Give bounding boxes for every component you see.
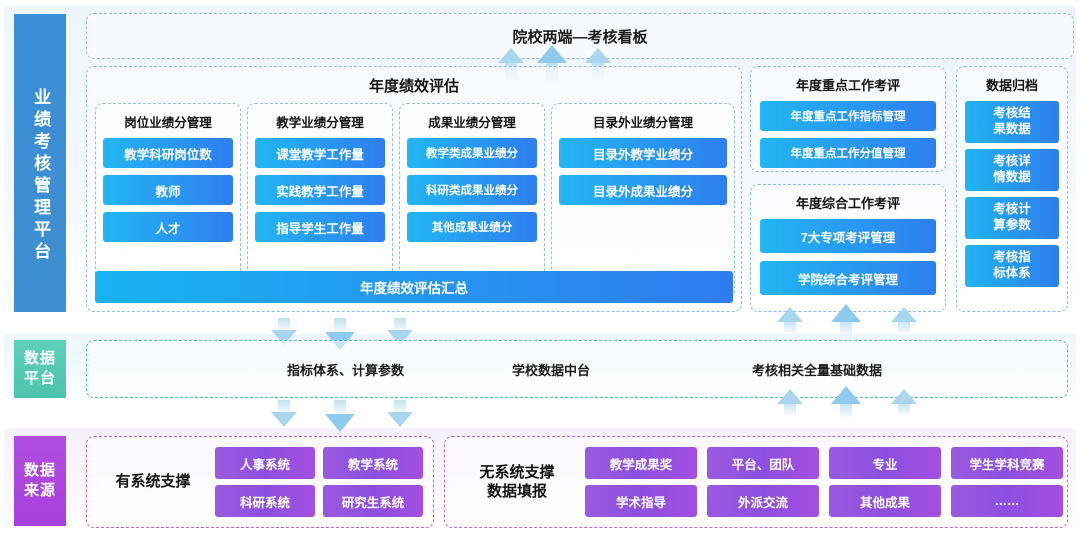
tile-research-achievement-score[interactable]: 科研类成果业绩分 bbox=[407, 175, 537, 205]
tile-teaching-research-posts[interactable]: 教学科研岗位数 bbox=[103, 138, 233, 168]
arrow-stem-up-5 bbox=[840, 402, 852, 418]
annual-performance-summary-bar[interactable]: 年度绩效评估汇总 bbox=[95, 271, 733, 303]
column-achievement-performance: 成果业绩分管理 教学类成果业绩分 科研类成果业绩分 其他成果业绩分 bbox=[399, 103, 545, 299]
arrow-up-kanban-2 bbox=[537, 45, 567, 63]
kanban-banner[interactable]: 院校两端—考核看板 bbox=[86, 13, 1074, 59]
arrow-stem-up-2 bbox=[840, 320, 852, 336]
arrow-down-5 bbox=[325, 414, 355, 432]
tile-appraisal-detail-data[interactable]: 考核详 情数据 bbox=[965, 149, 1059, 191]
tile-offcatalog-achievement-score[interactable]: 目录外成果业绩分 bbox=[559, 175, 727, 205]
data-platform-box: 指标体系、计算参数 学校数据中台 考核相关全量基础数据 bbox=[86, 340, 1068, 398]
tile-seven-special-appraisal[interactable]: 7大专项考评管理 bbox=[760, 219, 936, 253]
key-work-appraisal-title: 年度重点工作考评 bbox=[760, 75, 936, 94]
tile-teaching-system[interactable]: 教学系统 bbox=[323, 447, 423, 479]
tile-line1: 考核结 bbox=[993, 106, 1031, 122]
tile-practice-workload[interactable]: 实践教学工作量 bbox=[255, 175, 385, 205]
column-teaching-performance: 教学业绩分管理 课堂教学工作量 实践教学工作量 指导学生工作量 bbox=[247, 103, 393, 299]
tile-teacher[interactable]: 教师 bbox=[103, 175, 233, 205]
tile-teaching-achievement-award[interactable]: 教学成果奖 bbox=[585, 447, 697, 479]
tile-key-work-score-management[interactable]: 年度重点工作分值管理 bbox=[760, 138, 936, 168]
tile-line2: 标体系 bbox=[993, 266, 1031, 282]
data-source-label-line1: 数据 bbox=[24, 461, 56, 481]
key-work-appraisal-panel: 年度重点工作考评 年度重点工作指标管理 年度重点工作分值管理 bbox=[750, 66, 946, 172]
arrow-up-4 bbox=[777, 389, 803, 404]
arrow-up-kanban-1 bbox=[498, 48, 524, 63]
arrow-up-6 bbox=[891, 389, 917, 404]
manual-entry-tiles: 教学成果奖 平台、团队 专业 学生学科竞赛 学术指导 外派交流 其他成果 …… bbox=[585, 447, 1063, 517]
data-platform-label-line1: 数据 bbox=[24, 349, 56, 369]
manual-entry-label-line1: 无系统支撑 bbox=[479, 463, 554, 483]
arrow-down-4 bbox=[271, 412, 297, 427]
data-source-label-line2: 来源 bbox=[24, 481, 56, 501]
tile-appraisal-indicator-system[interactable]: 考核指 标体系 bbox=[965, 245, 1059, 287]
tile-line2: 算参数 bbox=[993, 218, 1031, 234]
column-post-performance: 岗位业绩分管理 教学科研岗位数 教师 人才 bbox=[95, 103, 241, 299]
tile-student-guidance-workload[interactable]: 指导学生工作量 bbox=[255, 212, 385, 242]
tile-other-achievements[interactable]: 其他成果 bbox=[829, 485, 941, 517]
tile-graduate-system[interactable]: 研究生系统 bbox=[323, 485, 423, 517]
data-source-band-label: 数据 来源 bbox=[14, 436, 66, 526]
tile-ellipsis[interactable]: …… bbox=[951, 485, 1063, 517]
tile-line1: 考核计 bbox=[993, 202, 1031, 218]
data-platform-left-text: 指标体系、计算参数 bbox=[287, 360, 404, 379]
arrow-stem-up-6 bbox=[898, 402, 910, 416]
column-title: 教学业绩分管理 bbox=[255, 112, 385, 131]
data-platform-label-line2: 平台 bbox=[24, 369, 56, 389]
comprehensive-work-appraisal-title: 年度综合工作考评 bbox=[760, 193, 936, 212]
tile-line2: 果数据 bbox=[993, 122, 1031, 138]
arrow-stem-up-4 bbox=[784, 402, 796, 416]
architecture-diagram: 业绩考核管理平台 数据 平台 数据 来源 院校两端—考核看板 年度绩效评估 岗位… bbox=[0, 0, 1080, 534]
tile-line2: 情数据 bbox=[993, 170, 1031, 186]
tile-college-comprehensive-appraisal[interactable]: 学院综合考评管理 bbox=[760, 261, 936, 295]
data-archive-title: 数据归档 bbox=[965, 75, 1059, 94]
tile-major[interactable]: 专业 bbox=[829, 447, 941, 479]
system-supported-sources-panel: 有系统支撑 人事系统 教学系统 科研系统 研究生系统 bbox=[86, 436, 434, 528]
tile-talent[interactable]: 人才 bbox=[103, 212, 233, 242]
annual-performance-title: 年度绩效评估 bbox=[87, 75, 741, 96]
comprehensive-work-appraisal-panel: 年度综合工作考评 7大专项考评管理 学院综合考评管理 bbox=[750, 184, 946, 312]
system-supported-label: 有系统支撑 bbox=[101, 437, 205, 527]
tile-appraisal-result-data[interactable]: 考核结 果数据 bbox=[965, 101, 1059, 143]
arrow-stem-up-3 bbox=[898, 320, 910, 334]
data-platform-center-text: 学校数据中台 bbox=[512, 360, 590, 379]
tile-appraisal-calculation-parameters[interactable]: 考核计 算参数 bbox=[965, 197, 1059, 239]
tile-research-system[interactable]: 科研系统 bbox=[215, 485, 315, 517]
tile-other-achievement-score[interactable]: 其他成果业绩分 bbox=[407, 212, 537, 242]
arrow-up-5 bbox=[831, 386, 861, 404]
arrow-up-3 bbox=[891, 307, 917, 322]
data-platform-right-text: 考核相关全量基础数据 bbox=[752, 360, 882, 379]
arrow-stem-up-1 bbox=[784, 320, 796, 334]
tile-student-discipline-competition[interactable]: 学生学科竞赛 bbox=[951, 447, 1063, 479]
manual-entry-label-line2: 数据填报 bbox=[479, 482, 554, 502]
arrow-up-2 bbox=[831, 304, 861, 322]
tile-platform-team[interactable]: 平台、团队 bbox=[707, 447, 819, 479]
arrow-up-kanban-3 bbox=[585, 48, 611, 63]
kanban-title: 院校两端—考核看板 bbox=[512, 26, 647, 47]
tile-line1: 考核详 bbox=[993, 154, 1031, 170]
tile-teaching-achievement-score[interactable]: 教学类成果业绩分 bbox=[407, 138, 537, 168]
column-offcatalog-performance: 目录外业绩分管理 目录外教学业绩分 目录外成果业绩分 bbox=[551, 103, 735, 299]
arrow-down-6 bbox=[387, 412, 413, 427]
tile-academic-guidance[interactable]: 学术指导 bbox=[585, 485, 697, 517]
data-archive-panel: 数据归档 考核结 果数据 考核详 情数据 考核计 算参数 考核指 标体系 bbox=[956, 66, 1068, 312]
system-supported-tiles: 人事系统 教学系统 科研系统 研究生系统 bbox=[215, 447, 423, 517]
tile-external-exchange[interactable]: 外派交流 bbox=[707, 485, 819, 517]
tile-hr-system[interactable]: 人事系统 bbox=[215, 447, 315, 479]
tile-key-work-indicator-management[interactable]: 年度重点工作指标管理 bbox=[760, 101, 936, 131]
tile-line1: 考核指 bbox=[993, 250, 1031, 266]
column-title: 目录外业绩分管理 bbox=[559, 112, 727, 131]
data-platform-band-label: 数据 平台 bbox=[14, 340, 66, 398]
arrow-up-1 bbox=[777, 307, 803, 322]
column-title: 成果业绩分管理 bbox=[407, 112, 537, 131]
manual-entry-sources-panel: 无系统支撑 数据填报 教学成果奖 平台、团队 专业 学生学科竞赛 学术指导 外派… bbox=[444, 436, 1068, 528]
tile-classroom-workload[interactable]: 课堂教学工作量 bbox=[255, 138, 385, 168]
tile-offcatalog-teaching-score[interactable]: 目录外教学业绩分 bbox=[559, 138, 727, 168]
annual-performance-panel: 年度绩效评估 岗位业绩分管理 教学科研岗位数 教师 人才 教学业绩分管理 课堂教… bbox=[86, 66, 742, 312]
manual-entry-label: 无系统支撑 数据填报 bbox=[459, 437, 575, 527]
column-title: 岗位业绩分管理 bbox=[103, 112, 233, 131]
platform-band-label: 业绩考核管理平台 bbox=[14, 14, 66, 312]
